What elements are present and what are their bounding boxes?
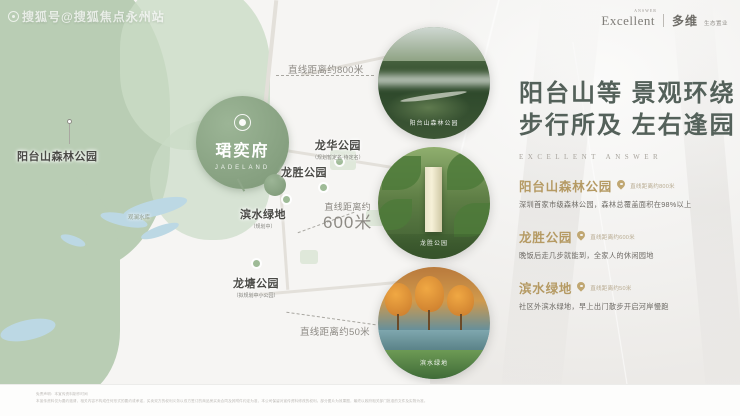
map-block [300,250,318,264]
watermark-text: 搜狐号@搜狐焦点永州站 [22,8,165,25]
photo-forest[interactable]: 阳台山森林公园 [378,27,490,139]
amenity-name: 滨水绿地 [519,278,572,297]
map-label-reservoir: 观澜水库 [128,213,150,221]
amenity-distance: 直线距离约600米 [590,233,635,241]
photo-foliage [447,151,487,189]
photo-water [378,330,490,352]
location-pin-icon [617,180,625,191]
disclaimer-line-1: 免责声明：本宣传资料制作时间 [36,391,428,398]
brand-logo[interactable]: Excellent ANSWER 多维 生态置业 [601,12,728,29]
brand-logo-cn-sub: 生态置业 [704,19,728,27]
map-label-text: 龙华公园 [315,140,361,152]
map-label-sub: （规划暂定名·待定名） [312,154,364,161]
map-leader-line [69,124,70,144]
distance-label-600: 直线距离约 600米 [323,202,372,233]
map-label-longsheng[interactable]: 龙胜公园 [281,164,327,180]
headline-subtitle-en: EXCELLENT ANSWER [519,153,736,161]
amenity-name: 龙胜公园 [519,227,572,246]
amenity-item-binshui[interactable]: 滨水绿地 直线距离约50米 社区外滨水绿地，早上出门散步开启河岸慢跑 [519,278,729,312]
photo-caption: 龙胜公园 [378,238,490,247]
photo-waterfront[interactable]: 滨水绿地 [378,267,490,379]
project-name: 珺奕府 [215,137,269,161]
location-pin-icon [577,231,585,242]
headline-line-2: 步行所及 左右逢园 [519,110,736,142]
amenity-distance: 直线距离约50米 [590,284,631,292]
map-poi-dot [253,260,260,267]
headline: 阳台山等 景观环绕 步行所及 左右逢园 EXCELLENT ANSWER [519,78,736,161]
photo-foliage [454,203,490,237]
photo-monument [425,167,442,232]
amenity-distance: 直线距离约800米 [630,182,675,190]
amenity-description: 社区外滨水绿地，早上出门散步开启河岸慢跑 [519,302,729,312]
brand-en-sup: ANSWER [634,8,657,13]
photo-sky [378,27,490,61]
amenity-name: 阳台山森林公园 [519,176,612,195]
map-label-text: 滨水绿地 [240,209,286,221]
map-label-text: 阳台山森林公园 [17,151,98,163]
map-label-sub: （拟规划中小公园） [233,292,279,299]
headline-line-1: 阳台山等 景观环绕 [519,78,736,110]
map-label-text: 龙塘公园 [233,278,279,290]
photo-tree [415,276,444,312]
photo-foliage [382,156,420,190]
photo-park[interactable]: 龙胜公园 [378,147,490,259]
map-label-sub: （规划中） [240,223,286,230]
brand-logo-cn: 多维 [672,12,698,29]
amenity-header: 龙胜公园 直线距离约600米 [519,227,729,246]
map-label-longtang[interactable]: 龙塘公园 （拟规划中小公园） [233,275,279,299]
watermark: 搜狐号@搜狐焦点永州站 [8,8,165,25]
photo-path [400,90,467,104]
map-poi-dot [320,184,327,191]
map-label-yangtaishan[interactable]: 阳台山森林公园 [17,148,98,164]
location-pin-icon [577,282,585,293]
amenity-item-longsheng[interactable]: 龙胜公园 直线距离约600米 晚饭后走几步就能到，全家人的休闲园地 [519,227,729,261]
photo-mist [378,70,490,90]
photo-caption: 滨水绿地 [378,358,490,367]
distance-label-50: 直线距离约50米 [300,324,370,338]
photo-caption: 阳台山森林公园 [378,118,490,127]
amenity-header: 阳台山森林公园 直线距离约800米 [519,176,729,195]
amenity-list: 阳台山森林公园 直线距离约800米 深圳首家市级森林公园，森林总覆盖面积在98%… [519,176,729,329]
poster-page: 搜狐号@搜狐焦点永州站 珺奕府 JADELAND [0,0,740,416]
project-seal-icon [234,114,251,131]
project-name-en: JADELAND [215,165,270,171]
map-poi-dot [283,196,290,203]
amenity-description: 深圳首家市级森林公园，森林总覆盖面积在98%以上 [519,200,729,210]
sohu-circle-icon [8,11,19,22]
amenity-description: 晚饭后走几步就能到，全家人的休闲园地 [519,251,729,261]
photo-tree [385,283,412,317]
photo-trunk [428,310,430,332]
location-map[interactable]: 珺奕府 JADELAND 阳台山森林公园 龙华公园 （规划暂定名·待定名） 龙胜… [0,0,430,398]
disclaimer-line-2: 本宣传资料仅为要约邀请，相关内容不构成任何形式的要约或承诺，买卖双方的权利义务以… [36,398,428,405]
amenity-item-yangtaishan[interactable]: 阳台山森林公园 直线距离约800米 深圳首家市级森林公园，森林总覆盖面积在98%… [519,176,729,210]
brand-logo-en: Excellent ANSWER [601,13,655,29]
brand-en-text: Excellent [601,13,655,28]
map-label-text: 龙胜公园 [281,167,327,179]
disclaimer: 免责声明：本宣传资料制作时间 本宣传资料仅为要约邀请，相关内容不构成任何形式的要… [36,391,428,405]
map-green-area [0,170,120,398]
logo-divider [663,14,664,27]
photo-foliage [378,199,412,230]
info-panel: Excellent ANSWER 多维 生态置业 阳台山等 景观环绕 步行所及 … [505,0,740,416]
distance-label-800: 直线距离约800米 [288,62,364,76]
map-label-binshui[interactable]: 滨水绿地 （规划中） [240,206,286,230]
map-label-longhua[interactable]: 龙华公园 （规划暂定名·待定名） [312,137,364,161]
footer: 免责声明：本宣传资料制作时间 本宣传资料仅为要约邀请，相关内容不构成任何形式的要… [0,384,740,416]
photo-tree [447,285,474,316]
map-label-text: 观澜水库 [128,215,150,221]
amenity-header: 滨水绿地 直线距离约50米 [519,278,729,297]
